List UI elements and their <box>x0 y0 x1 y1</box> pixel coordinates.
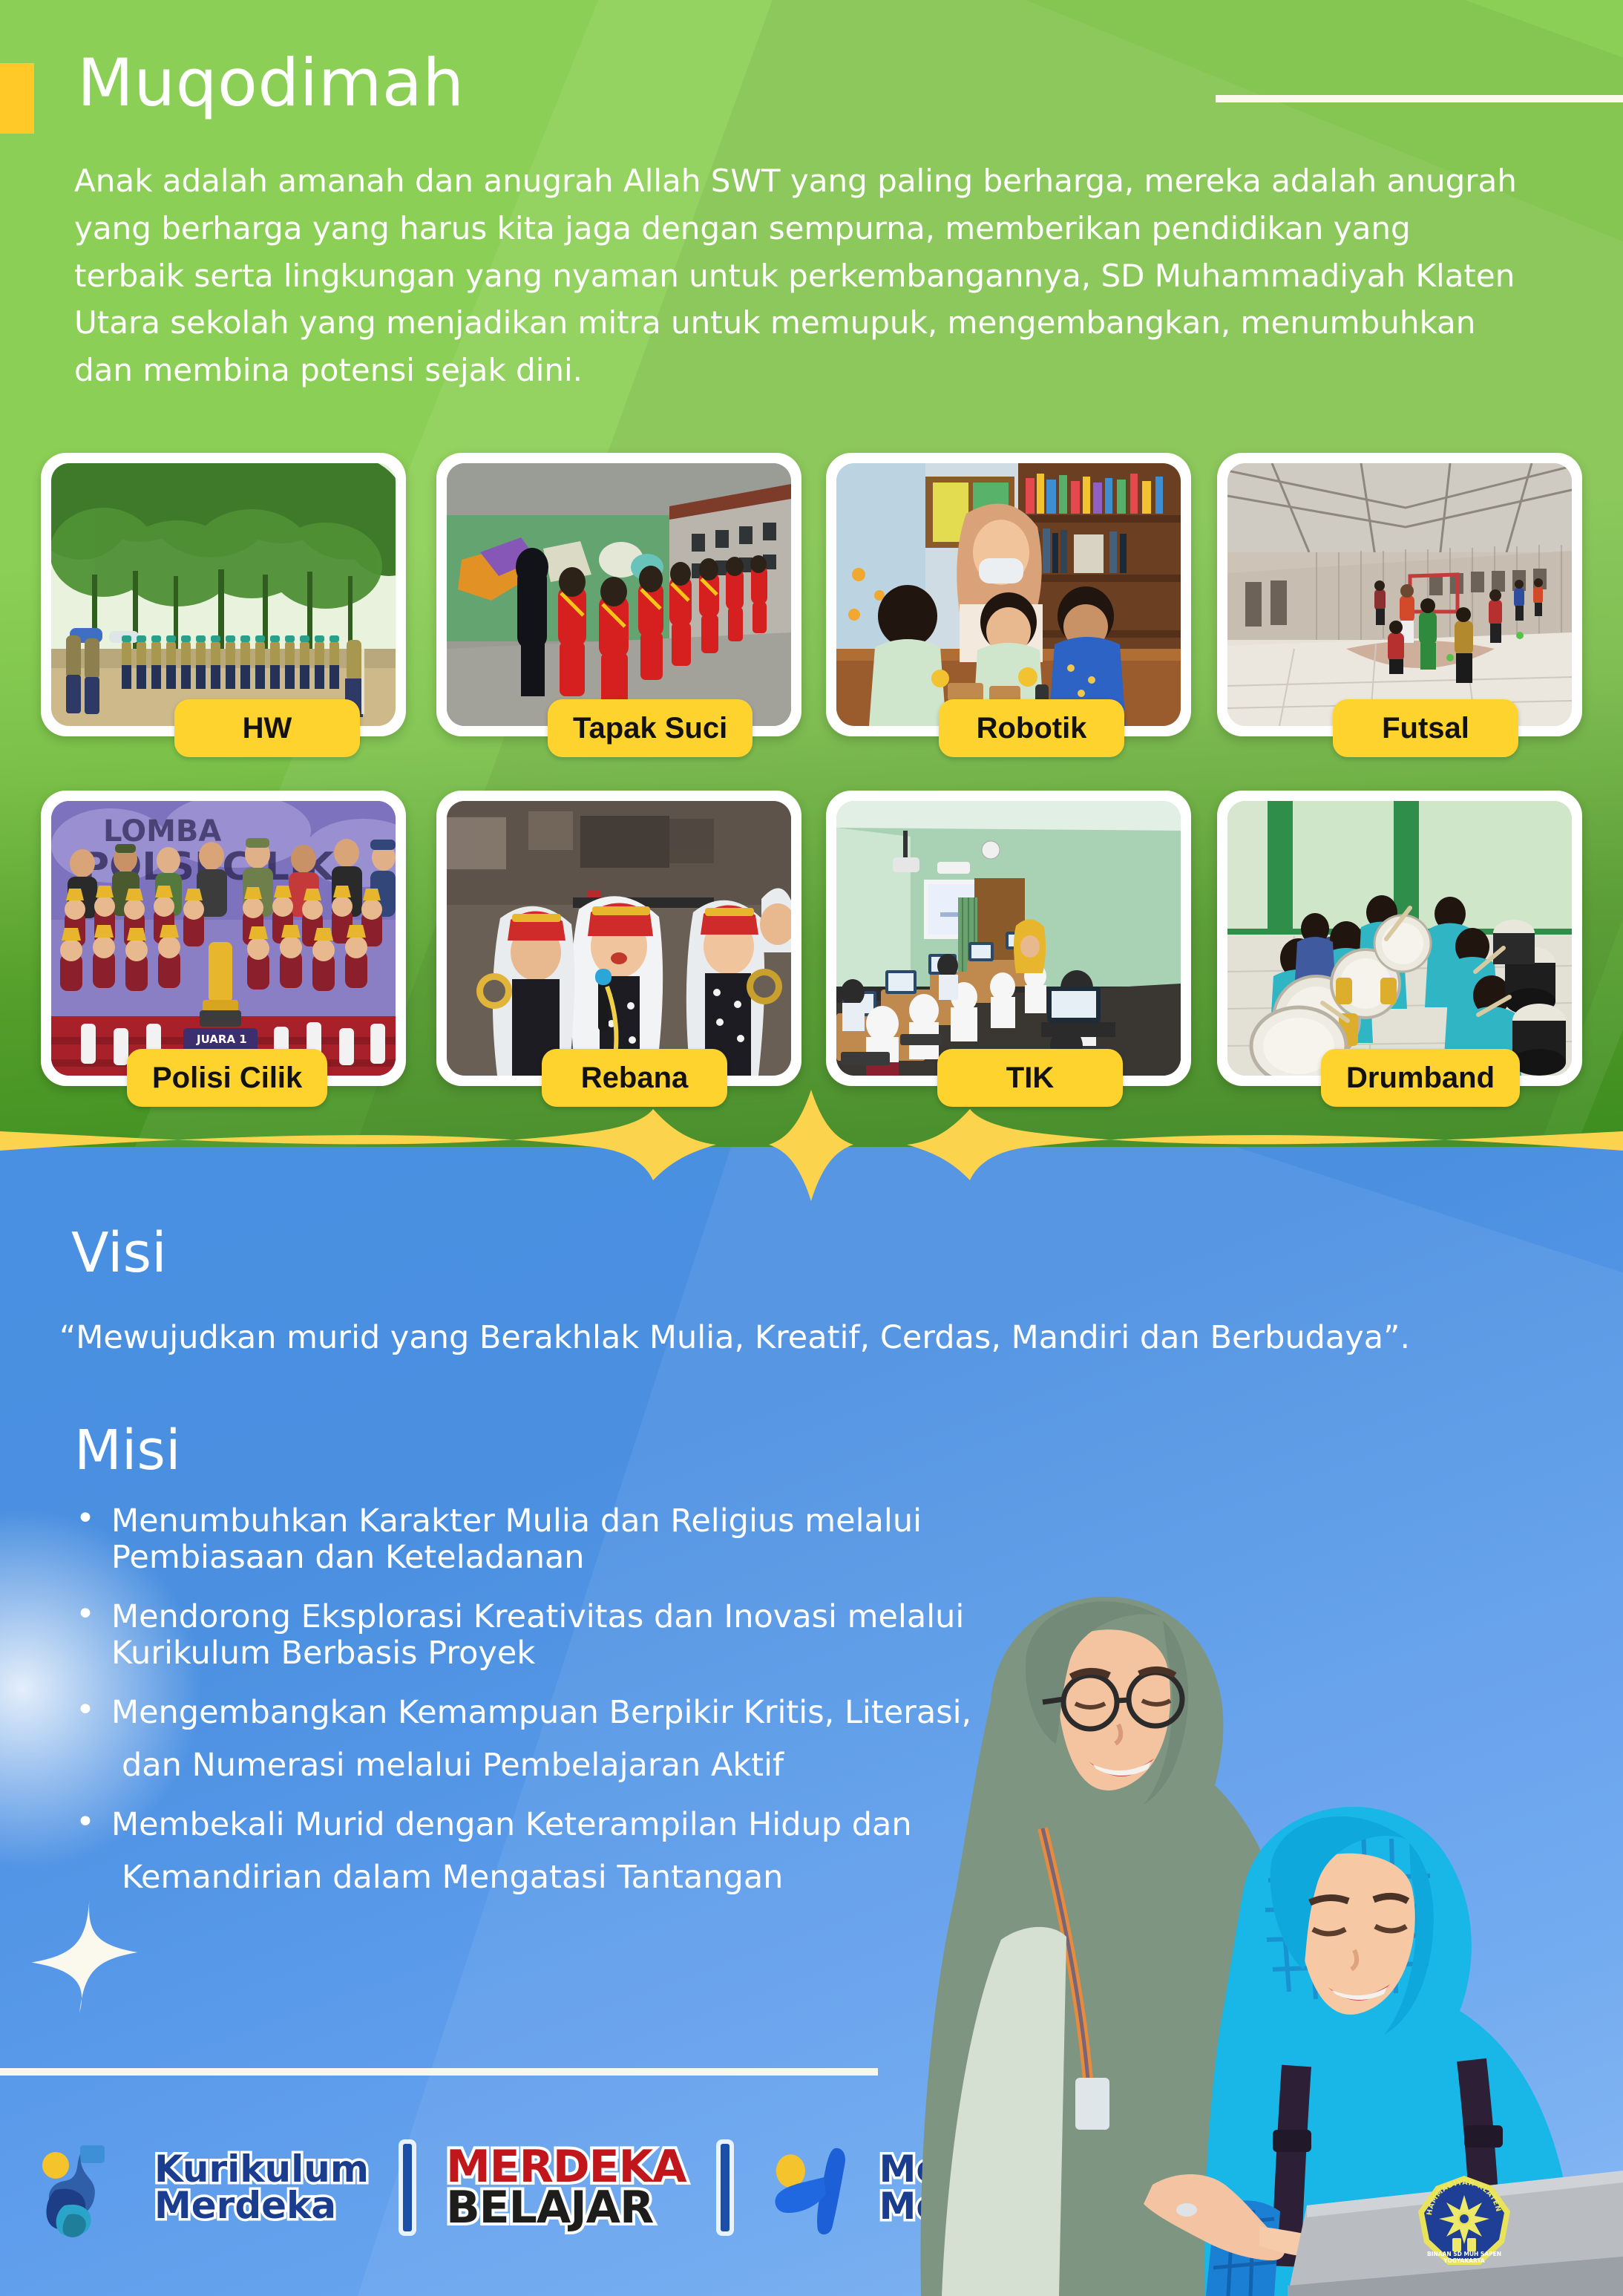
logo-separator-1 <box>403 2144 412 2231</box>
extracurricular-grid: HW <box>0 453 1623 1113</box>
card-tapak-suci[interactable]: Tapak Suci <box>436 453 801 736</box>
card-hw[interactable]: HW <box>41 453 406 736</box>
visi-heading: Visi <box>71 1221 167 1285</box>
merdeka-mengajar-line1: Merdeka <box>879 2151 1075 2188</box>
photo-rebana-band <box>447 801 791 1076</box>
card-futsal[interactable]: Futsal <box>1217 453 1582 736</box>
sparkle-icon <box>16 1889 142 2015</box>
misi-item-1: Menumbuhkan Karakter Mulia dan Religius … <box>62 1503 1101 1577</box>
photo-little-police: LOMBA POLSI CILIK <box>51 801 396 1076</box>
page-title: Muqodimah <box>77 45 465 121</box>
card-drumband[interactable]: Drumband <box>1217 791 1582 1086</box>
kurikulum-merdeka-line2: Merdeka <box>154 2188 369 2224</box>
footer-rule <box>0 2068 878 2076</box>
green-section: Muqodimah Anak adalah amanah dan anugrah… <box>0 0 1623 1147</box>
card-label-robotik: Robotik <box>939 699 1124 757</box>
card-label-tapak-suci: Tapak Suci <box>548 699 753 757</box>
misi-item-2-text: Mendorong Eksplorasi Kreativitas dan Ino… <box>111 1598 964 1672</box>
yellow-accent-bar <box>0 63 34 134</box>
card-rebana[interactable]: Rebana <box>436 791 801 1086</box>
photo-robotics-class <box>836 463 1181 726</box>
card-label-tik: TIK <box>937 1049 1123 1107</box>
photo-futsal-hall <box>1227 463 1572 726</box>
intro-paragraph: Anak adalah amanah dan anugrah Allah SWT… <box>74 157 1521 394</box>
card-label-polisi-cilik: Polisi Cilik <box>127 1049 327 1107</box>
logo-merdeka-mengajar: Merdeka Mengajar <box>764 2132 1075 2243</box>
blue-section: Visi “Mewujudkan murid yang Berakhlak Mu… <box>0 1147 1623 2296</box>
card-label-rebana: Rebana <box>542 1049 727 1107</box>
logo-separator-2 <box>721 2144 729 2231</box>
misi-heading: Misi <box>74 1419 181 1482</box>
misi-item-1-text: Menumbuhkan Karakter Mulia dan Religius … <box>111 1502 922 1576</box>
svg-text:JUARA 1: JUARA 1 <box>196 1033 247 1046</box>
visi-text: “Mewujudkan murid yang Berakhlak Mulia, … <box>59 1319 1529 1356</box>
misi-list: Menumbuhkan Karakter Mulia dan Religius … <box>62 1503 1101 1919</box>
kurikulum-merdeka-line1: Kurikulum <box>154 2151 369 2188</box>
logo-merdeka-belajar: MERDEKA BELAJAR <box>446 2147 686 2228</box>
card-robotik[interactable]: Robotik <box>826 453 1191 736</box>
card-tik[interactable]: TIK <box>826 791 1191 1086</box>
poster-root: Muqodimah Anak adalah amanah dan anugrah… <box>0 0 1623 2296</box>
card-label-drumband: Drumband <box>1321 1049 1520 1107</box>
card-polisi-cilik[interactable]: LOMBA POLSI CILIK <box>41 791 406 1086</box>
header-rule <box>1216 95 1623 102</box>
misi-item-2: Mendorong Eksplorasi Kreativitas dan Ino… <box>62 1599 1101 1672</box>
merdeka-belajar-line2: BELAJAR <box>446 2188 686 2228</box>
kurikulum-merdeka-icon <box>31 2132 142 2243</box>
photo-martial-arts <box>447 463 791 726</box>
misi-item-3-text: Mengembangkan Kemampuan Berpikir Kritis,… <box>111 1694 971 1731</box>
photo-computer-lab <box>836 801 1181 1076</box>
partner-logos: Kurikulum Merdeka MERDEKA BELAJAR <box>31 2132 1075 2243</box>
misi-item-3: Mengembangkan Kemampuan Berpikir Kritis,… <box>62 1695 1101 1785</box>
svg-text:LOMBA: LOMBA <box>103 814 221 848</box>
misi-item-4-continuation: Kemandirian dalam Mengatasi Tantangan <box>111 1860 1101 1896</box>
merdeka-mengajar-line2: Mengajar <box>879 2188 1075 2225</box>
photo-scouts-forest <box>51 463 396 726</box>
misi-item-4: Membekali Murid dengan Keterampilan Hidu… <box>62 1807 1101 1897</box>
merdeka-mengajar-icon <box>764 2132 868 2243</box>
card-label-hw: HW <box>174 699 360 757</box>
photo-drumband <box>1227 801 1572 1076</box>
misi-item-3-continuation: dan Numerasi melalui Pembelajaran Aktif <box>111 1747 1101 1784</box>
card-label-futsal: Futsal <box>1333 699 1518 757</box>
logo-kurikulum-merdeka: Kurikulum Merdeka <box>31 2132 369 2243</box>
misi-item-4-text: Membekali Murid dengan Keterampilan Hidu… <box>111 1806 912 1843</box>
